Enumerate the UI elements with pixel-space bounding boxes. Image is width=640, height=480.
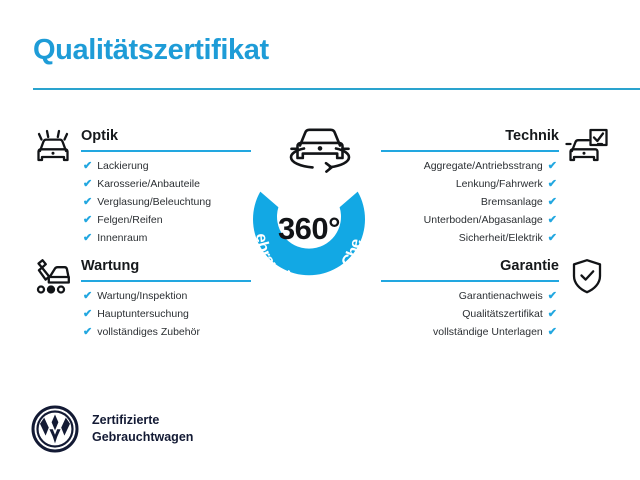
list-item-label: Wartung/Inspektion bbox=[97, 290, 187, 302]
section-technik: Technik ✔ Aggregate/Antriebsstrang ✔ Len… bbox=[395, 128, 607, 154]
check-icon: ✔ bbox=[83, 161, 92, 172]
section-title-wartung: Wartung bbox=[81, 258, 139, 274]
qualitaetszertifikat-page: Qualitätszertifikat Optik ✔ Lackierung bbox=[0, 0, 640, 480]
list-item-label: Verglasung/Beleuchtung bbox=[97, 196, 211, 208]
badge-360-gebrauchtwagen-check: Gebrauchtwagen-Check 360° bbox=[229, 155, 389, 315]
optik-heading: Optik bbox=[33, 128, 238, 154]
list-item: ✔ Verglasung/Beleuchtung bbox=[83, 196, 211, 214]
check-icon: ✔ bbox=[83, 327, 92, 338]
car-rotate-icon bbox=[283, 122, 357, 178]
check-icon: ✔ bbox=[548, 197, 557, 208]
check-icon: ✔ bbox=[548, 179, 557, 190]
badge-center-label: 360° bbox=[229, 211, 389, 247]
check-icon: ✔ bbox=[548, 215, 557, 226]
list-item: ✔ Karosserie/Anbauteile bbox=[83, 178, 211, 196]
check-icon: ✔ bbox=[83, 233, 92, 244]
wartung-heading: Wartung bbox=[33, 258, 238, 284]
list-item: ✔ Hauptuntersuchung bbox=[83, 308, 200, 326]
list-item-label: Sicherheit/Elektrik bbox=[459, 232, 543, 244]
check-icon: ✔ bbox=[83, 197, 92, 208]
list-item: ✔ Lenkung/Fahrwerk bbox=[424, 178, 557, 196]
list-item-label: Felgen/Reifen bbox=[97, 214, 162, 226]
technik-item-list: ✔ Aggregate/Antriebsstrang ✔ Lenkung/Fah… bbox=[424, 160, 557, 250]
optik-underline bbox=[81, 150, 251, 152]
garantie-underline bbox=[381, 280, 559, 282]
footer-text: Zertifizierte Gebrauchtwagen bbox=[92, 412, 193, 446]
list-item: ✔ Unterboden/Abgasanlage bbox=[424, 214, 557, 232]
list-item-label: Innenraum bbox=[97, 232, 147, 244]
section-optik: Optik ✔ Lackierung ✔ Karosserie/Anbautei… bbox=[33, 128, 238, 154]
list-item-label: Unterboden/Abgasanlage bbox=[424, 214, 543, 226]
vw-logo bbox=[31, 405, 79, 453]
check-icon: ✔ bbox=[548, 291, 557, 302]
check-icon: ✔ bbox=[548, 309, 557, 320]
section-title-garantie: Garantie bbox=[500, 258, 559, 274]
list-item-label: Aggregate/Antriebsstrang bbox=[424, 160, 543, 172]
check-icon: ✔ bbox=[548, 161, 557, 172]
list-item: ✔ Lackierung bbox=[83, 160, 211, 178]
garantie-heading: Garantie bbox=[395, 258, 607, 284]
list-item: ✔ Qualitätszertifikat bbox=[433, 308, 557, 326]
section-wartung: Wartung ✔ Wartung/Inspektion ✔ Hauptunte… bbox=[33, 258, 238, 284]
wartung-item-list: ✔ Wartung/Inspektion ✔ Hauptuntersuchung… bbox=[83, 290, 200, 344]
list-item-label: Bremsanlage bbox=[481, 196, 543, 208]
list-item: ✔ Bremsanlage bbox=[424, 196, 557, 214]
list-item-label: Garantienachweis bbox=[459, 290, 543, 302]
list-item-label: Lenkung/Fahrwerk bbox=[456, 178, 543, 190]
list-item: ✔ vollständiges Zubehör bbox=[83, 326, 200, 344]
list-item: ✔ Aggregate/Antriebsstrang bbox=[424, 160, 557, 178]
list-item-label: vollständige Unterlagen bbox=[433, 326, 543, 338]
check-icon: ✔ bbox=[548, 327, 557, 338]
page-title: Qualitätszertifikat bbox=[33, 34, 269, 67]
optik-item-list: ✔ Lackierung ✔ Karosserie/Anbauteile ✔ V… bbox=[83, 160, 211, 250]
section-garantie: Garantie ✔ Garantienachweis ✔ Qualitätsz… bbox=[395, 258, 607, 284]
section-title-technik: Technik bbox=[505, 128, 559, 144]
list-item: ✔ Wartung/Inspektion bbox=[83, 290, 200, 308]
list-item-label: Qualitätszertifikat bbox=[462, 308, 543, 320]
list-item-label: vollständiges Zubehör bbox=[97, 326, 200, 338]
list-item-label: Lackierung bbox=[97, 160, 148, 172]
check-icon: ✔ bbox=[83, 309, 92, 320]
list-item: ✔ vollständige Unterlagen bbox=[433, 326, 557, 344]
technik-underline bbox=[381, 150, 559, 152]
list-item: ✔ Garantienachweis bbox=[433, 290, 557, 308]
check-icon: ✔ bbox=[548, 233, 557, 244]
footer-brand: Zertifizierte Gebrauchtwagen bbox=[31, 405, 193, 453]
technik-heading: Technik bbox=[395, 128, 607, 154]
list-item: ✔ Sicherheit/Elektrik bbox=[424, 232, 557, 250]
list-item-label: Hauptuntersuchung bbox=[97, 308, 189, 320]
list-item: ✔ Innenraum bbox=[83, 232, 211, 250]
header-divider bbox=[33, 88, 640, 90]
garantie-item-list: ✔ Garantienachweis ✔ Qualitätszertifikat… bbox=[433, 290, 557, 344]
list-item: ✔ Felgen/Reifen bbox=[83, 214, 211, 232]
check-icon: ✔ bbox=[83, 179, 92, 190]
wartung-underline bbox=[81, 280, 251, 282]
check-icon: ✔ bbox=[83, 291, 92, 302]
check-icon: ✔ bbox=[83, 215, 92, 226]
list-item-label: Karosserie/Anbauteile bbox=[97, 178, 200, 190]
section-title-optik: Optik bbox=[81, 128, 118, 144]
